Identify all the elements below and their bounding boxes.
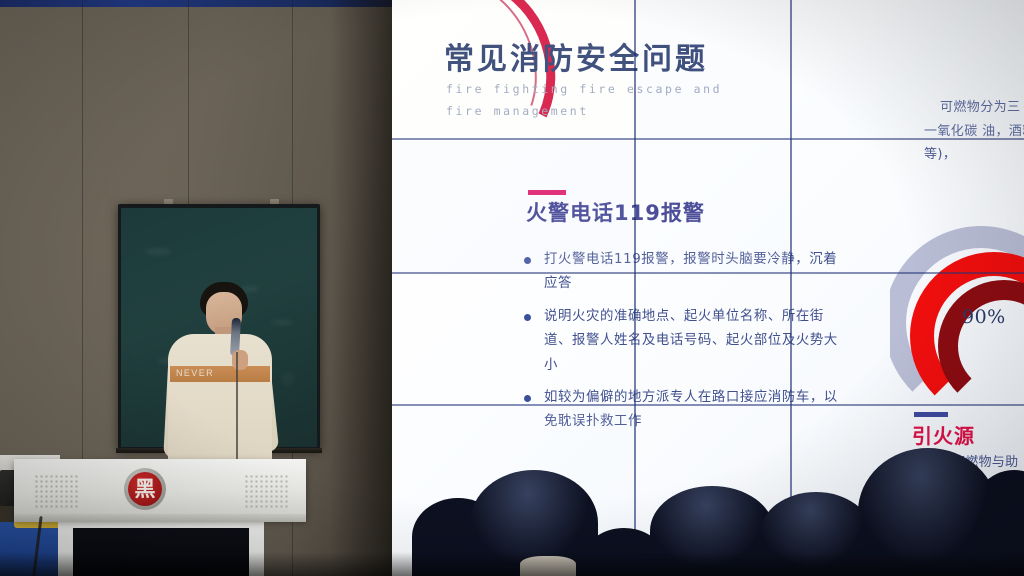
- podium-speaker-grille: [244, 474, 290, 508]
- podium-bevel: [14, 514, 306, 522]
- lecture-scene: NEVER 黑 常见消防安全问题 fire fighting fire esca…: [0, 0, 1024, 576]
- slide-title: 常见消防安全问题: [444, 34, 708, 78]
- presenter-hand: [232, 350, 248, 370]
- list-item: 如较为偏僻的地方派专人在路口接应消防车，以免耽误扑救工作: [520, 386, 850, 435]
- right-column-heading: 引火源: [912, 420, 975, 449]
- emblem-glyph: 黑: [128, 472, 162, 506]
- wall-shadow: [330, 0, 392, 576]
- gauge-value-label: 90%: [962, 306, 1006, 328]
- podium-emblem: 黑: [124, 468, 166, 510]
- sweater-text: NEVER: [176, 368, 268, 378]
- slide-subtitle: fire fighting fire escape and fire manag…: [446, 78, 756, 123]
- bullet-list: 打火警电话119报警，报警时头脑要冷静，沉着应答 说明火灾的准确地点、起火单位名…: [520, 248, 850, 443]
- panel-seam-vertical: [790, 0, 792, 576]
- list-item: 说明火灾的准确地点、起火单位名称、所在街道、报警人姓名及电话号码、起火部位及火势…: [520, 305, 850, 378]
- section-heading: 火警电话119报警: [526, 197, 705, 227]
- foreground-shadow: [0, 552, 1024, 576]
- panel-seam-vertical: [634, 0, 636, 576]
- section-accent-bar: [528, 190, 566, 195]
- right-column-accent-bar: [914, 412, 948, 417]
- podium-speaker-grille: [34, 474, 80, 508]
- panel-seam-horizontal: [392, 272, 1024, 274]
- panel-seam-horizontal: [392, 404, 1024, 406]
- panel-seam-horizontal: [392, 138, 1024, 140]
- microphone-cable: [236, 352, 238, 462]
- right-column-paragraph: 可燃物分为三 气，一氧化碳 油，酒精等)，: [924, 96, 1024, 167]
- presenter-sweater: [168, 334, 272, 466]
- gauge-arc-graphic: 90%: [890, 226, 1024, 402]
